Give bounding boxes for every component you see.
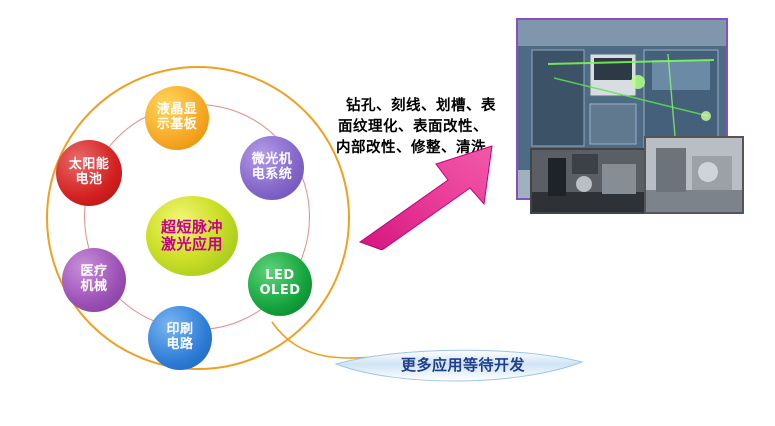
center-line1: 超短脉冲 bbox=[161, 219, 223, 236]
node-mems-line1: 微光机 bbox=[252, 153, 293, 168]
center-line2: 激光应用 bbox=[161, 236, 223, 253]
node-led[interactable]: LED OLED bbox=[248, 252, 312, 316]
ribbon-label: 更多应用等待开发 bbox=[358, 354, 568, 375]
node-led-line2: OLED bbox=[259, 284, 300, 299]
node-pcb[interactable]: 印刷 电路 bbox=[148, 306, 212, 370]
node-center-ultrashort-pulse-laser[interactable]: 超短脉冲 激光应用 bbox=[146, 196, 238, 276]
applications-line1: 钻孔、刻线、划槽、表 bbox=[346, 96, 532, 117]
node-medical-line1: 医疗 bbox=[80, 265, 107, 280]
laser-equipment-photo bbox=[516, 18, 746, 216]
photo-inset-right bbox=[644, 136, 744, 214]
node-solar-line2: 电池 bbox=[69, 173, 110, 188]
node-lcd[interactable]: 液晶显 示基板 bbox=[145, 86, 209, 150]
node-led-line1: LED bbox=[259, 269, 300, 284]
node-medical[interactable]: 医疗 机械 bbox=[62, 248, 126, 312]
applications-line2: 面纹理化、表面改性、 bbox=[338, 117, 532, 138]
node-lcd-line1: 液晶显 bbox=[157, 103, 198, 118]
node-lcd-line2: 示基板 bbox=[157, 118, 198, 133]
photo-inset-left bbox=[530, 148, 650, 214]
node-mems-line2: 电系统 bbox=[252, 168, 293, 183]
magenta-arrow bbox=[352, 140, 532, 250]
node-pcb-line2: 电路 bbox=[166, 338, 193, 353]
node-pcb-line1: 印刷 bbox=[166, 323, 193, 338]
node-solar-line1: 太阳能 bbox=[69, 158, 110, 173]
node-medical-line2: 机械 bbox=[80, 280, 107, 295]
node-solar[interactable]: 太阳能 电池 bbox=[56, 140, 122, 206]
node-mems[interactable]: 微光机 电系统 bbox=[240, 136, 304, 200]
diagram-canvas: 液晶显 示基板 微光机 电系统 LED OLED 印刷 电路 医疗 机械 太阳能… bbox=[0, 0, 775, 426]
